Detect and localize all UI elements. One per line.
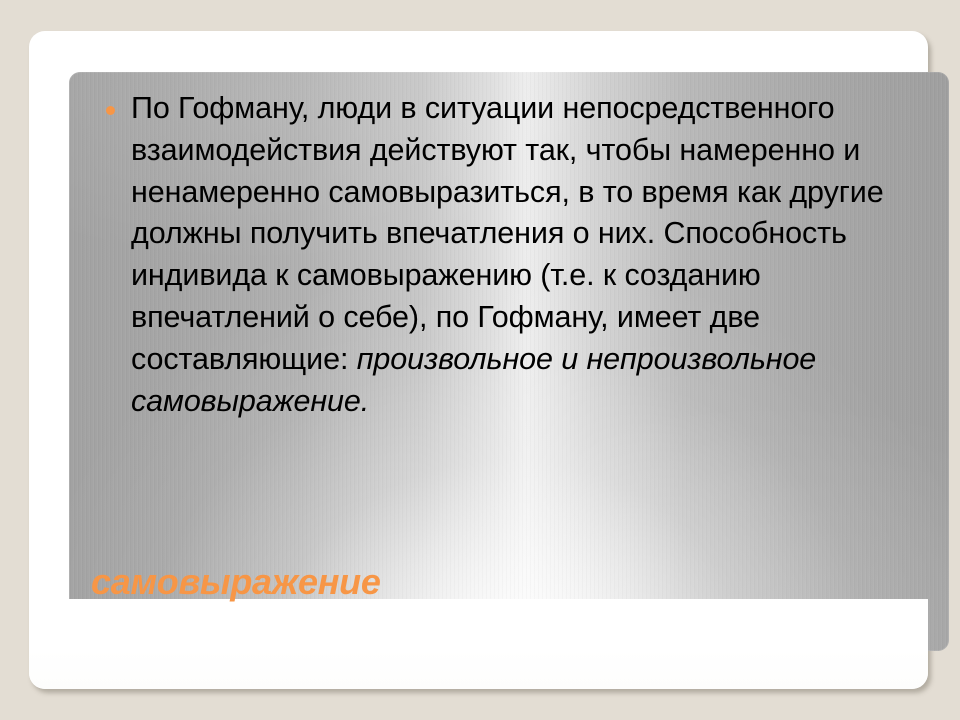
list-item: По Гофману, люди в ситуации непосредстве… <box>91 88 935 422</box>
panel-content: По Гофману, люди в ситуации непосредстве… <box>69 72 949 651</box>
bullet-list: По Гофману, люди в ситуации непосредстве… <box>91 88 935 422</box>
bullet-dot-icon <box>106 106 115 115</box>
bullet-text-regular: По Гофману, люди в ситуации непосредстве… <box>131 91 884 376</box>
slide-stage: По Гофману, люди в ситуации непосредстве… <box>0 0 960 720</box>
page-title: самовыражение <box>91 560 791 604</box>
slide-frame: По Гофману, люди в ситуации непосредстве… <box>29 31 928 689</box>
slide-content-panel: По Гофману, люди в ситуации непосредстве… <box>69 72 949 651</box>
